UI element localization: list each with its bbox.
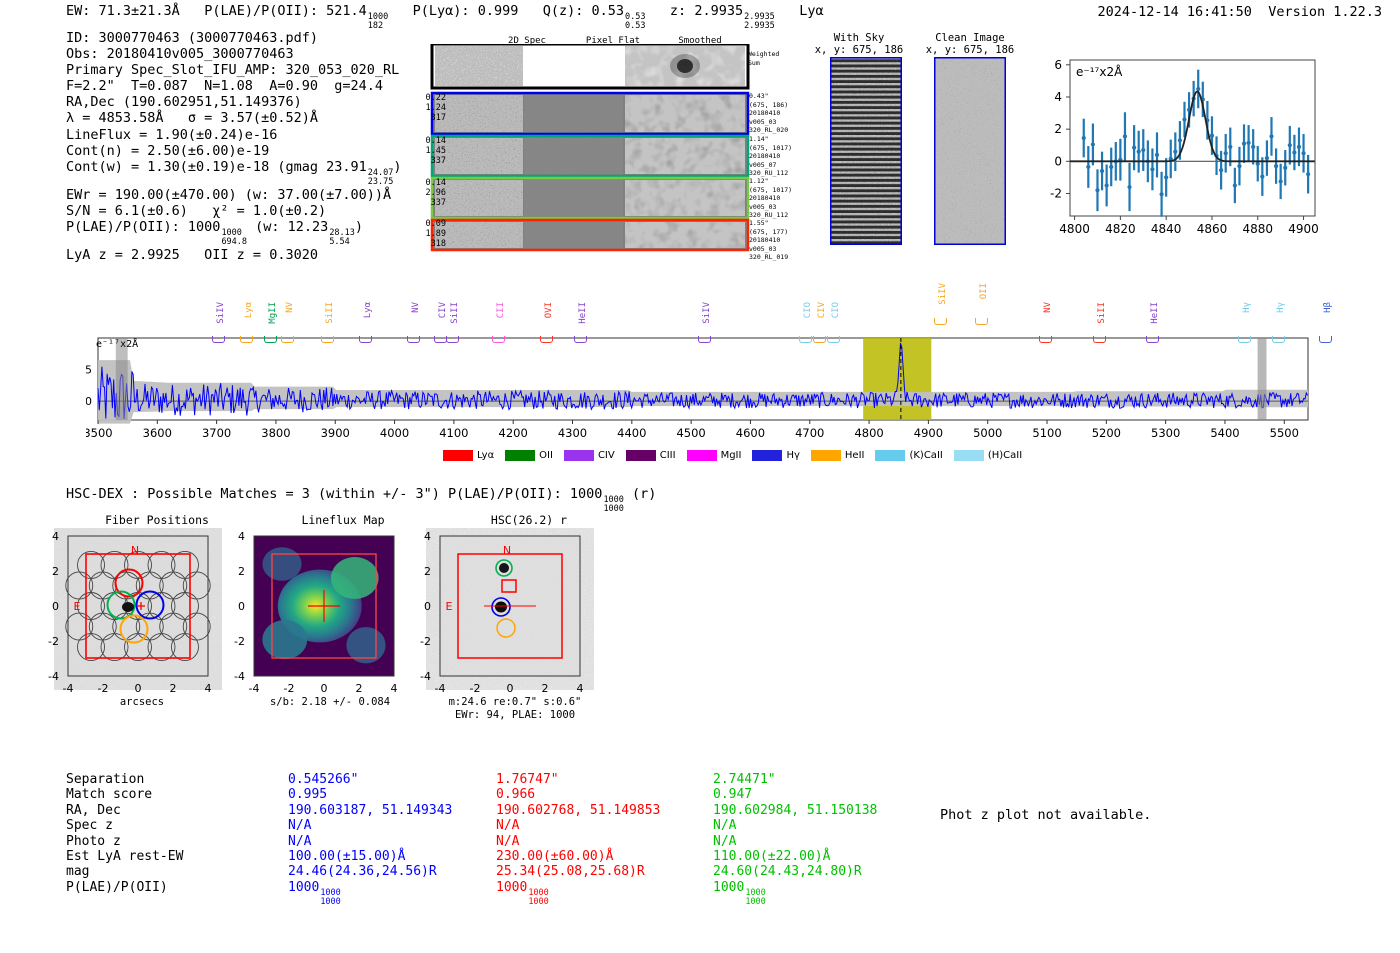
match-1-radec: 190.602768, 51.149853 bbox=[496, 803, 660, 818]
info-cont-w: Cont(w) = 1.30(±0.19)e-18 (gmag 23.9124.… bbox=[66, 159, 401, 187]
svg-text:-2: -2 bbox=[48, 635, 59, 648]
svg-text:4: 4 bbox=[424, 530, 431, 543]
info-redshifts: LyA z = 2.9925 OII z = 0.3020 bbox=[66, 247, 401, 263]
strip-left-4: 0.091.89318 bbox=[418, 219, 446, 249]
legend-label: OII bbox=[539, 450, 553, 461]
svg-text:3500: 3500 bbox=[86, 426, 113, 440]
legend-label: CIV bbox=[598, 450, 615, 461]
line-tick-nv bbox=[407, 336, 420, 343]
legend-swatch bbox=[443, 450, 473, 461]
svg-text:-2: -2 bbox=[470, 682, 481, 695]
svg-text:-2: -2 bbox=[98, 682, 109, 695]
info-obs: Obs: 20180410v005_3000770463 bbox=[66, 46, 401, 62]
line-tick-siii bbox=[321, 336, 334, 343]
version: Version 1.22.3 bbox=[1268, 4, 1382, 20]
header-summary-line: EW: 71.3±21.3Å P(LAE)/P(OII): 521.410001… bbox=[66, 3, 824, 31]
svg-text:0: 0 bbox=[52, 600, 59, 613]
legend-item-7: (K)CaII bbox=[875, 450, 942, 461]
legend-label: Hγ bbox=[786, 450, 799, 461]
match-0-est-ew: 100.00(±15.00)Å bbox=[288, 849, 452, 864]
line-label-hβ: Hβ bbox=[1323, 302, 1333, 313]
match-1-est-ew: 230.00(±60.00)Å bbox=[496, 849, 660, 864]
line-tick-upper-oii bbox=[975, 318, 988, 325]
plae-range: 1000182 bbox=[368, 13, 388, 31]
cutout-title-lineflux-map: Lineflux Map bbox=[248, 513, 438, 527]
info-lambda-sigma: λ = 4853.58Å σ = 3.57(±0.52)Å bbox=[66, 110, 401, 126]
legend-label: (H)CaII bbox=[988, 450, 1022, 461]
svg-text:4: 4 bbox=[205, 682, 212, 695]
row-label-mag: mag bbox=[66, 864, 183, 879]
z-label: z: bbox=[670, 3, 686, 19]
svg-text:3700: 3700 bbox=[202, 426, 231, 440]
svg-text:5500: 5500 bbox=[1270, 426, 1299, 440]
svg-text:4400: 4400 bbox=[617, 426, 646, 440]
line-label-siii: SiII bbox=[325, 302, 335, 324]
line-label-siii: SiII bbox=[450, 302, 460, 324]
line-label-heii: HeII bbox=[1150, 302, 1160, 324]
line-tick-hβ bbox=[1319, 336, 1332, 343]
line-tick-siiv bbox=[698, 336, 711, 343]
line-label-nv: NV bbox=[411, 302, 421, 313]
line-label-upper-oii: OII bbox=[979, 283, 989, 299]
line-label-hγ: Hγ bbox=[1276, 302, 1286, 313]
line-tick-lyα bbox=[359, 336, 372, 343]
match-2-photo-z: N/A bbox=[713, 834, 877, 849]
with-sky-title: With Skyx, y: 675, 186 bbox=[812, 32, 906, 56]
line-label-mgii: MgII bbox=[268, 302, 278, 324]
line-label-nv: NV bbox=[285, 302, 295, 313]
strip-row-3 bbox=[432, 178, 748, 218]
svg-text:4000: 4000 bbox=[380, 426, 409, 440]
svg-text:2: 2 bbox=[170, 682, 177, 695]
strip-left-2: 0.141.45337 bbox=[418, 136, 446, 166]
match-2-radec: 190.602984, 51.150138 bbox=[713, 803, 877, 818]
line-label-lyα: Lyα bbox=[244, 302, 254, 318]
svg-text:4100: 4100 bbox=[439, 426, 468, 440]
ew-label: EW: bbox=[66, 3, 90, 19]
svg-text:0: 0 bbox=[321, 682, 328, 695]
info-cont-n: Cont(n) = 2.50(±6.00)e-19 bbox=[66, 143, 401, 159]
line-tick-hγ bbox=[1238, 336, 1251, 343]
match-1-separation: 1.76747" bbox=[496, 772, 660, 787]
svg-text:0: 0 bbox=[1054, 154, 1062, 168]
legend-swatch bbox=[954, 450, 984, 461]
svg-text:4900: 4900 bbox=[914, 426, 943, 440]
hscdex-header: HSC-DEX : Possible Matches = 3 (within +… bbox=[66, 486, 656, 514]
svg-text:4: 4 bbox=[1054, 90, 1062, 104]
line-label-siiv: SiIV bbox=[216, 302, 226, 324]
fiber-positions-panel[interactable]: NE-4-4-2-2002244 bbox=[36, 528, 236, 698]
clean-image-cutout bbox=[934, 57, 1006, 245]
strip-left-1: 0.221.24317 bbox=[418, 93, 446, 123]
svg-text:-2: -2 bbox=[1050, 186, 1062, 200]
legend-item-5: Hγ bbox=[752, 450, 799, 461]
legend-swatch bbox=[811, 450, 841, 461]
qz-range: 0.530.53 bbox=[625, 13, 645, 31]
line-tick-cii bbox=[492, 336, 505, 343]
svg-text:4800: 4800 bbox=[1059, 222, 1090, 236]
weighted-sum-label: Weighted Sum bbox=[748, 50, 779, 67]
legend-swatch bbox=[626, 450, 656, 461]
legend-swatch bbox=[505, 450, 535, 461]
legend-swatch bbox=[687, 450, 717, 461]
row-label-photo-z: Photo z bbox=[66, 834, 183, 849]
info-ewr: EWr = 190.00(±470.00) (w: 37.00(±7.00))Å bbox=[66, 187, 401, 203]
legend-item-3: CIII bbox=[626, 450, 676, 461]
qz-value: 0.53 bbox=[592, 3, 625, 19]
svg-text:N: N bbox=[131, 544, 139, 557]
row-label-est-ew: Est LyA rest-EW bbox=[66, 849, 183, 864]
svg-text:2: 2 bbox=[1054, 122, 1062, 136]
svg-text:-4: -4 bbox=[435, 682, 446, 695]
svg-text:E: E bbox=[446, 600, 453, 613]
info-lineflux: LineFlux = 1.90(±0.24)e-16 bbox=[66, 127, 401, 143]
line-label-civ: CIV bbox=[438, 302, 448, 318]
info-sn-chi2: S/N = 6.1(±0.6) χ² = 1.0(±0.2) bbox=[66, 203, 401, 219]
svg-text:2: 2 bbox=[542, 682, 549, 695]
match-2-spec-z: N/A bbox=[713, 818, 877, 833]
legend-swatch bbox=[875, 450, 905, 461]
svg-text:4800: 4800 bbox=[854, 426, 883, 440]
svg-text:-4: -4 bbox=[63, 682, 74, 695]
spectrum-legend: LyαOIICIVCIIIMgIIHγHeII(K)CaII(H)CaII bbox=[443, 450, 1022, 461]
line-tick-cio bbox=[799, 336, 812, 343]
line-tick-heii bbox=[574, 336, 587, 343]
legend-swatch bbox=[564, 450, 594, 461]
svg-text:4700: 4700 bbox=[795, 426, 824, 440]
line-tick-heii bbox=[1146, 336, 1159, 343]
svg-text:3900: 3900 bbox=[321, 426, 350, 440]
match-2-separation: 2.74471" bbox=[713, 772, 877, 787]
svg-text:2: 2 bbox=[52, 565, 59, 578]
svg-text:0: 0 bbox=[424, 600, 431, 613]
row-label-match-score: Match score bbox=[66, 787, 183, 802]
match-2-est-ew: 110.00(±22.00)Å bbox=[713, 849, 877, 864]
match-0-match-score: 0.995 bbox=[288, 787, 452, 802]
strip-right-4: 1.55"(675, 177)20180410v005_03320_RL_019 bbox=[749, 219, 788, 262]
with-sky-cutout bbox=[830, 57, 902, 245]
hsc-sublabel: m:24.6 re:0.7" s:0.6" bbox=[420, 696, 610, 708]
line-tick-hγ bbox=[1272, 336, 1285, 343]
line-label-hγ: Hγ bbox=[1242, 302, 1252, 313]
line-tick-nv bbox=[1039, 336, 1052, 343]
match-2-match-score: 0.947 bbox=[713, 787, 877, 802]
match-0-separation: 0.545266" bbox=[288, 772, 452, 787]
svg-text:4200: 4200 bbox=[499, 426, 528, 440]
z-range: 2.99352.9935 bbox=[744, 13, 775, 31]
svg-text:4: 4 bbox=[52, 530, 59, 543]
line-tick-cio bbox=[827, 336, 840, 343]
row-label-plae: P(LAE)/P(OII) bbox=[66, 880, 183, 895]
line-tick-siii bbox=[446, 336, 459, 343]
hsc-sublabel2: EWr: 94, PLAE: 1000 bbox=[420, 709, 610, 721]
line-fit-plot: -20246480048204840486048804900e⁻¹⁷x2Å bbox=[1030, 48, 1320, 253]
svg-text:-2: -2 bbox=[234, 635, 245, 648]
cutout-title-fiber-positions: Fiber Positions bbox=[62, 513, 252, 527]
line-tick-civ bbox=[813, 336, 826, 343]
legend-label: MgII bbox=[721, 450, 742, 461]
svg-text:0: 0 bbox=[507, 682, 514, 695]
svg-text:4600: 4600 bbox=[736, 426, 765, 440]
legend-label: CIII bbox=[660, 450, 676, 461]
svg-text:4: 4 bbox=[391, 682, 398, 695]
svg-text:4: 4 bbox=[577, 682, 584, 695]
svg-text:5200: 5200 bbox=[1092, 426, 1121, 440]
svg-text:4840: 4840 bbox=[1151, 222, 1182, 236]
legend-item-1: OII bbox=[505, 450, 553, 461]
line-tick-upper-siiv bbox=[934, 318, 947, 325]
legend-swatch bbox=[752, 450, 782, 461]
photoz-note: Phot z plot not available. bbox=[940, 807, 1151, 823]
line-tick-ovi bbox=[540, 336, 553, 343]
z-value: 2.9935 bbox=[694, 3, 743, 19]
info-seeing-params: F=2.2" T=0.087 N=1.08 A=0.90 g=24.4 bbox=[66, 78, 401, 94]
row-label-separation: Separation bbox=[66, 772, 183, 787]
timestamp: 2024-12-14 16:41:50 bbox=[1098, 4, 1252, 20]
spectrum-flux-annotation: e⁻¹⁷x2Å bbox=[96, 339, 138, 350]
svg-text:4860: 4860 bbox=[1197, 222, 1228, 236]
svg-text:4: 4 bbox=[238, 530, 245, 543]
svg-text:N: N bbox=[503, 544, 511, 557]
legend-label: Lyα bbox=[477, 450, 494, 461]
match-0-photo-z: N/A bbox=[288, 834, 452, 849]
svg-text:4820: 4820 bbox=[1105, 222, 1136, 236]
line-label-siii: SiII bbox=[1097, 302, 1107, 324]
plya-label: P(Lyα): bbox=[413, 3, 470, 19]
svg-text:-2: -2 bbox=[420, 635, 431, 648]
line-label-cio: CIO bbox=[803, 302, 813, 318]
match-1-match-score: 0.966 bbox=[496, 787, 660, 802]
plae-label: P(LAE)/P(OII): bbox=[204, 3, 318, 19]
match-0-mag: 24.46(24.36,24.56)R bbox=[288, 864, 452, 879]
plya-value: 0.999 bbox=[478, 3, 519, 19]
match-1-spec-z: N/A bbox=[496, 818, 660, 833]
svg-text:5100: 5100 bbox=[1032, 426, 1061, 440]
line-label-nv: NV bbox=[1043, 302, 1053, 313]
hsc-r-panel[interactable]: NE-4-4-2-2002244 bbox=[408, 528, 608, 698]
legend-item-4: MgII bbox=[687, 450, 742, 461]
line-label-heii: HeII bbox=[578, 302, 588, 324]
row-label-radec: RA, Dec bbox=[66, 803, 183, 818]
ew-value: 71.3±21.3Å bbox=[99, 3, 180, 19]
cutout-title-hsc-r: HSC(26.2) r bbox=[434, 513, 624, 527]
svg-text:-4: -4 bbox=[234, 670, 245, 683]
line-label-cii: CII bbox=[496, 302, 506, 318]
match-column-1: 1.76747"0.966190.602768, 51.149853N/AN/A… bbox=[496, 772, 660, 907]
header-timestamp-version: 2024-12-14 16:41:50 Version 1.22.3 bbox=[1098, 4, 1383, 20]
line-tick-mgii bbox=[264, 336, 277, 343]
plae-value: 521.4 bbox=[326, 3, 367, 19]
svg-text:4900: 4900 bbox=[1288, 222, 1319, 236]
strip-row-2 bbox=[432, 136, 748, 176]
svg-text:-2: -2 bbox=[284, 682, 295, 695]
strip-row-weighted-sum bbox=[432, 44, 748, 88]
svg-text:0: 0 bbox=[238, 600, 245, 613]
line-tick-siii bbox=[1093, 336, 1106, 343]
legend-item-0: Lyα bbox=[443, 450, 494, 461]
info-radec: RA,Dec (190.602951,51.149376) bbox=[66, 94, 401, 110]
z-type: Lyα bbox=[799, 3, 823, 19]
line-label-lyα: Lyα bbox=[363, 302, 373, 318]
svg-text:-4: -4 bbox=[48, 670, 59, 683]
legend-item-2: CIV bbox=[564, 450, 615, 461]
match-2-plae: 100010001000 bbox=[713, 880, 877, 907]
svg-text:5000: 5000 bbox=[973, 426, 1002, 440]
match-0-radec: 190.603187, 51.149343 bbox=[288, 803, 452, 818]
info-plae: P(LAE)/P(OII): 10001000694.8 (w: 12.2328… bbox=[66, 219, 401, 247]
strip-row-4 bbox=[432, 220, 748, 250]
legend-item-6: HeII bbox=[811, 450, 865, 461]
line-label-ovi: OVI bbox=[544, 302, 554, 318]
svg-text:2: 2 bbox=[238, 565, 245, 578]
row-label-spec-z: Spec z bbox=[66, 818, 183, 833]
svg-text:5: 5 bbox=[86, 364, 92, 377]
info-id: ID: 3000770463 (3000770463.pdf) bbox=[66, 30, 401, 46]
match-1-photo-z: N/A bbox=[496, 834, 660, 849]
svg-text:5400: 5400 bbox=[1210, 426, 1239, 440]
svg-text:3600: 3600 bbox=[143, 426, 172, 440]
svg-text:2: 2 bbox=[424, 565, 431, 578]
svg-text:4500: 4500 bbox=[676, 426, 705, 440]
line-tick-lyα bbox=[240, 336, 253, 343]
svg-text:0: 0 bbox=[86, 395, 92, 408]
spec-strip-panels bbox=[420, 44, 780, 252]
legend-item-8: (H)CaII bbox=[954, 450, 1022, 461]
svg-text:E: E bbox=[74, 600, 81, 613]
qz-label: Q(z): bbox=[543, 3, 584, 19]
match-0-spec-z: N/A bbox=[288, 818, 452, 833]
fiber-xlabel: arcsecs bbox=[62, 696, 222, 708]
svg-text:e⁻¹⁷x2Å: e⁻¹⁷x2Å bbox=[1076, 64, 1123, 79]
match-column-2: 2.74471"0.947190.602984, 51.150138N/AN/A… bbox=[713, 772, 877, 907]
lineflux-sublabel: s/b: 2.18 +/- 0.084 bbox=[240, 696, 420, 708]
line-label-cio: CIO bbox=[831, 302, 841, 318]
strip-right-1: 0.43"(675, 186)20180410v005_03320_RL_020 bbox=[749, 92, 788, 135]
line-tick-siiv bbox=[212, 336, 225, 343]
match-1-plae: 100010001000 bbox=[496, 880, 660, 907]
line-label-upper-siiv: SiIV bbox=[938, 283, 948, 305]
match-1-mag: 25.34(25.08,25.68)R bbox=[496, 864, 660, 879]
clean-image-title: Clean Imagex, y: 675, 186 bbox=[917, 32, 1023, 56]
line-label-siiv: SiIV bbox=[702, 302, 712, 324]
svg-text:6: 6 bbox=[1054, 58, 1062, 72]
lineflux-map-panel[interactable]: -4-4-2-2002244 bbox=[222, 528, 422, 698]
strip-right-3: 1.12"(675, 1017)20180410v005_03320_RU_11… bbox=[749, 177, 792, 220]
info-primary-spec: Primary Spec_Slot_IFU_AMP: 320_053_020_R… bbox=[66, 62, 401, 78]
match-2-mag: 24.60(24.43,24.80)R bbox=[713, 864, 877, 879]
svg-text:5300: 5300 bbox=[1151, 426, 1180, 440]
strip-left-3: 0.142.96337 bbox=[418, 178, 446, 208]
svg-text:-4: -4 bbox=[420, 670, 431, 683]
svg-text:4300: 4300 bbox=[558, 426, 587, 440]
match-0-plae: 100010001000 bbox=[288, 880, 452, 907]
line-label-civ: CIV bbox=[817, 302, 827, 318]
match-column-0: 0.545266"0.995190.603187, 51.149343N/AN/… bbox=[288, 772, 452, 907]
detection-info-block: ID: 3000770463 (3000770463.pdf) Obs: 201… bbox=[66, 30, 401, 263]
svg-text:0: 0 bbox=[135, 682, 142, 695]
strip-right-2: 1.14"(675, 1017)20180410v005_07320_RU_11… bbox=[749, 135, 792, 178]
line-tick-nv bbox=[281, 336, 294, 343]
svg-text:4880: 4880 bbox=[1242, 222, 1273, 236]
svg-text:2: 2 bbox=[356, 682, 363, 695]
svg-text:3800: 3800 bbox=[261, 426, 290, 440]
svg-text:-4: -4 bbox=[249, 682, 260, 695]
strip-row-1 bbox=[432, 93, 748, 134]
legend-label: HeII bbox=[845, 450, 865, 461]
legend-label: (K)CaII bbox=[909, 450, 942, 461]
